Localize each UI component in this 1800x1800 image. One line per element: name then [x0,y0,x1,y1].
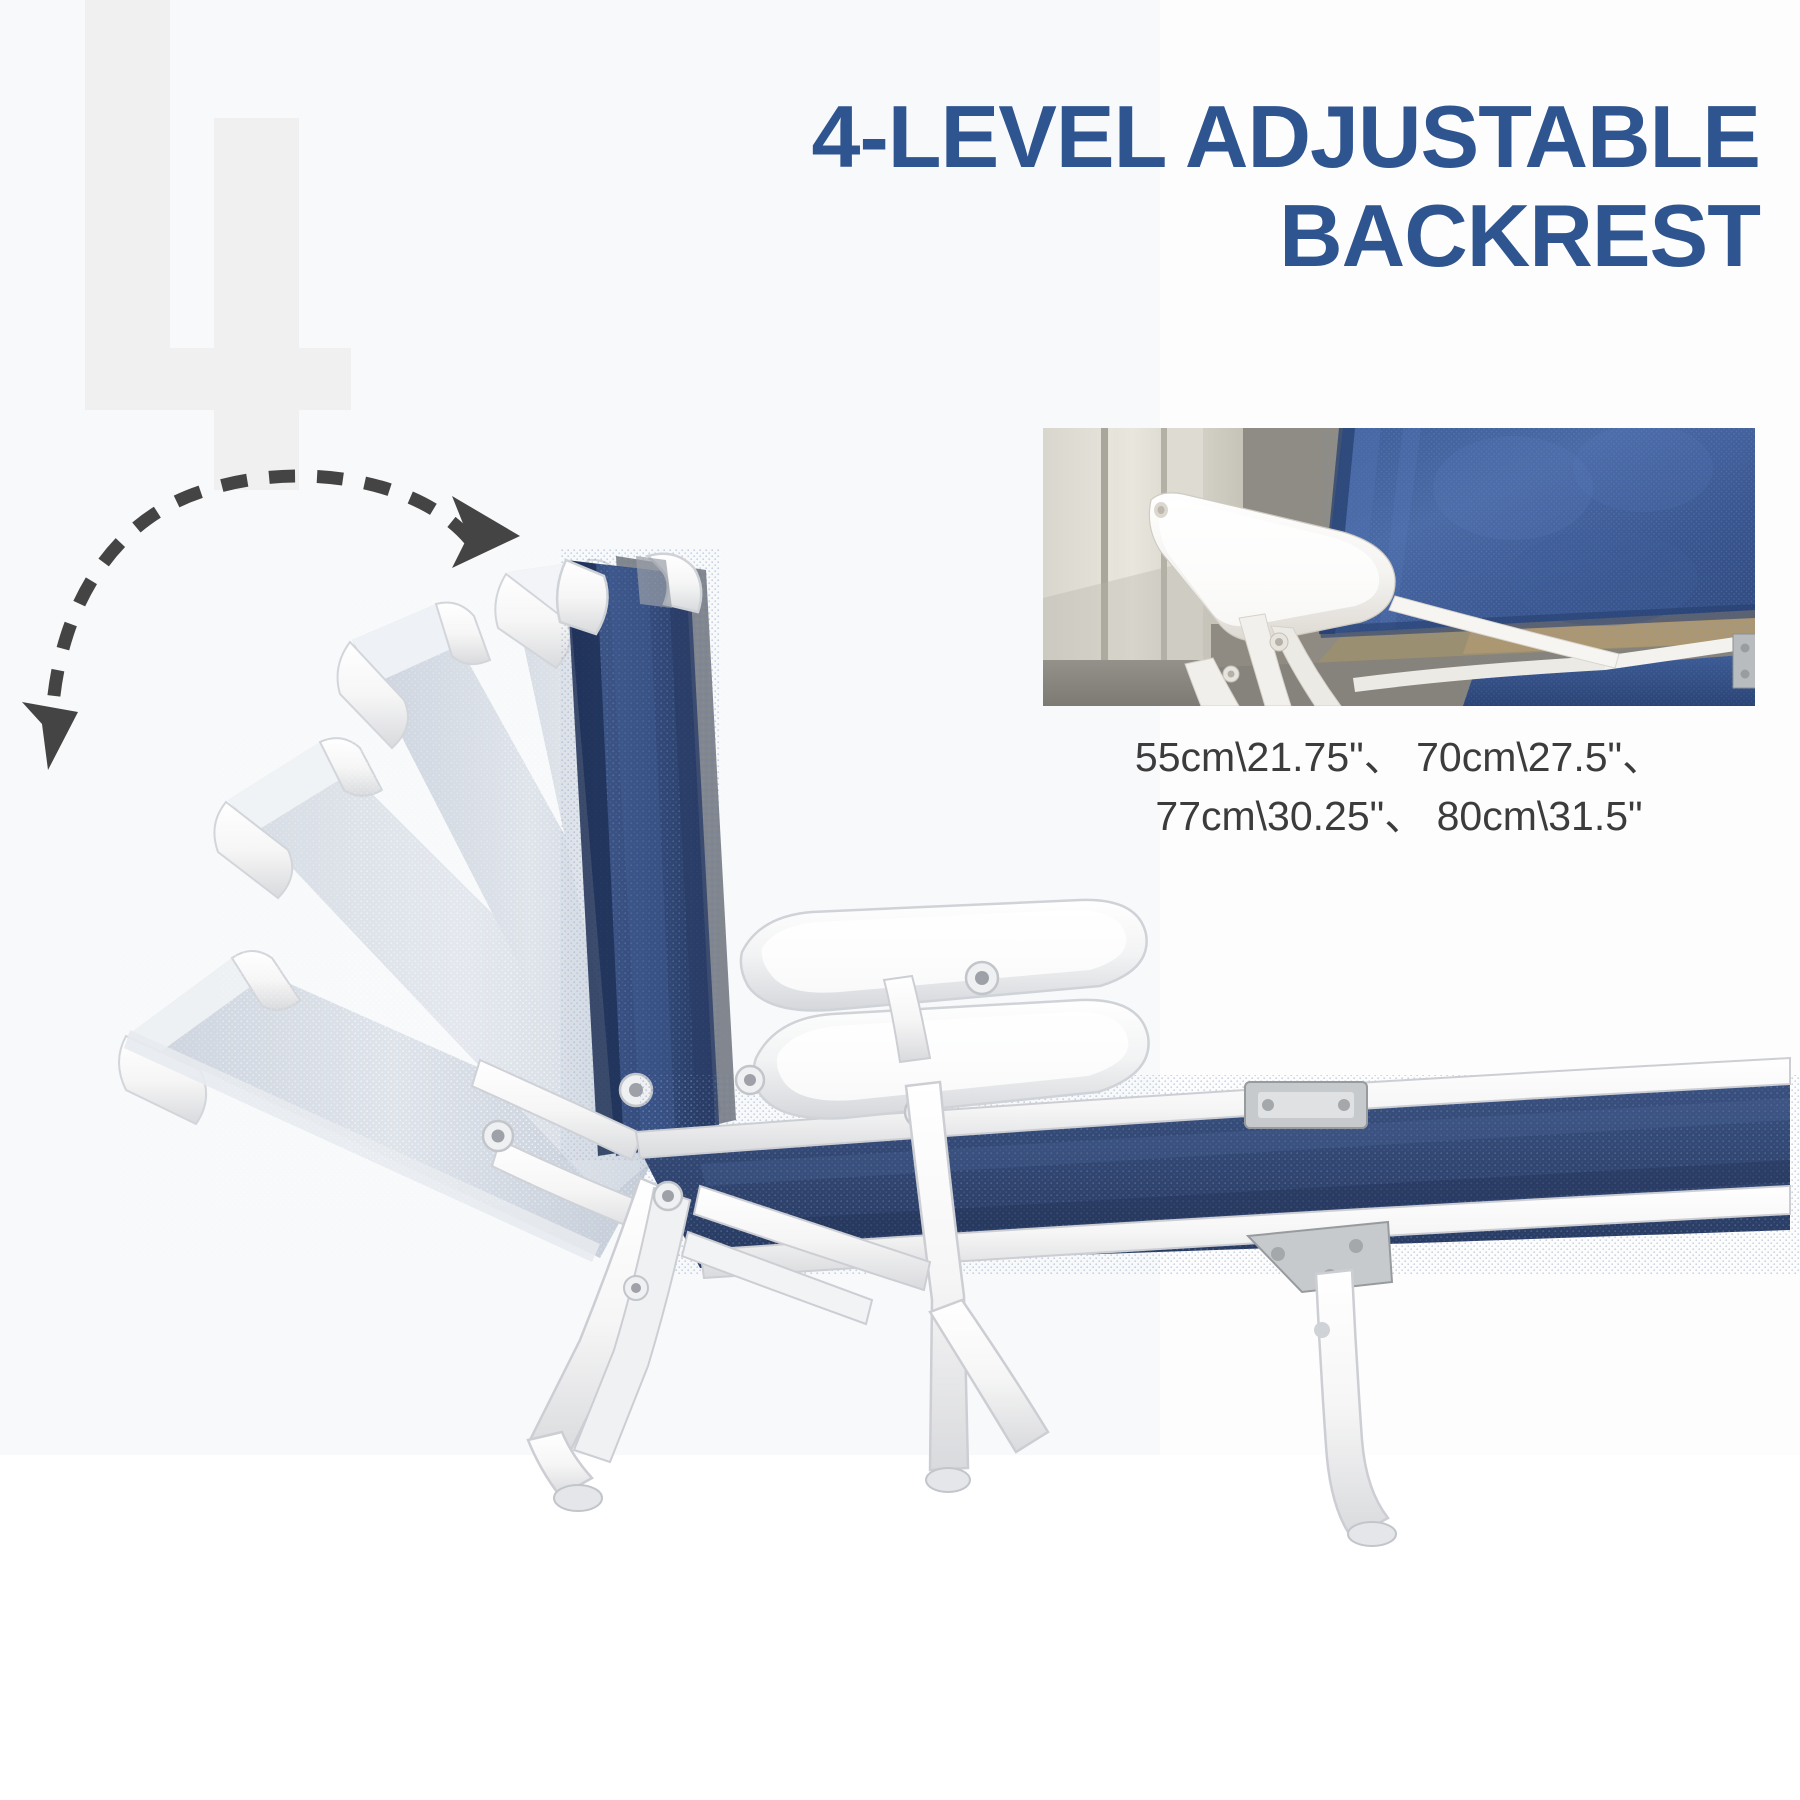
armrest-upper [741,900,1147,1011]
active-backrest [557,548,736,1160]
infographic-canvas: 4-LEVEL ADJUSTABLE BACKREST [0,0,1800,1800]
product-illustration [0,0,1800,1800]
leg-far-right [1314,1270,1396,1546]
frame-bracket-left [1245,1082,1367,1128]
